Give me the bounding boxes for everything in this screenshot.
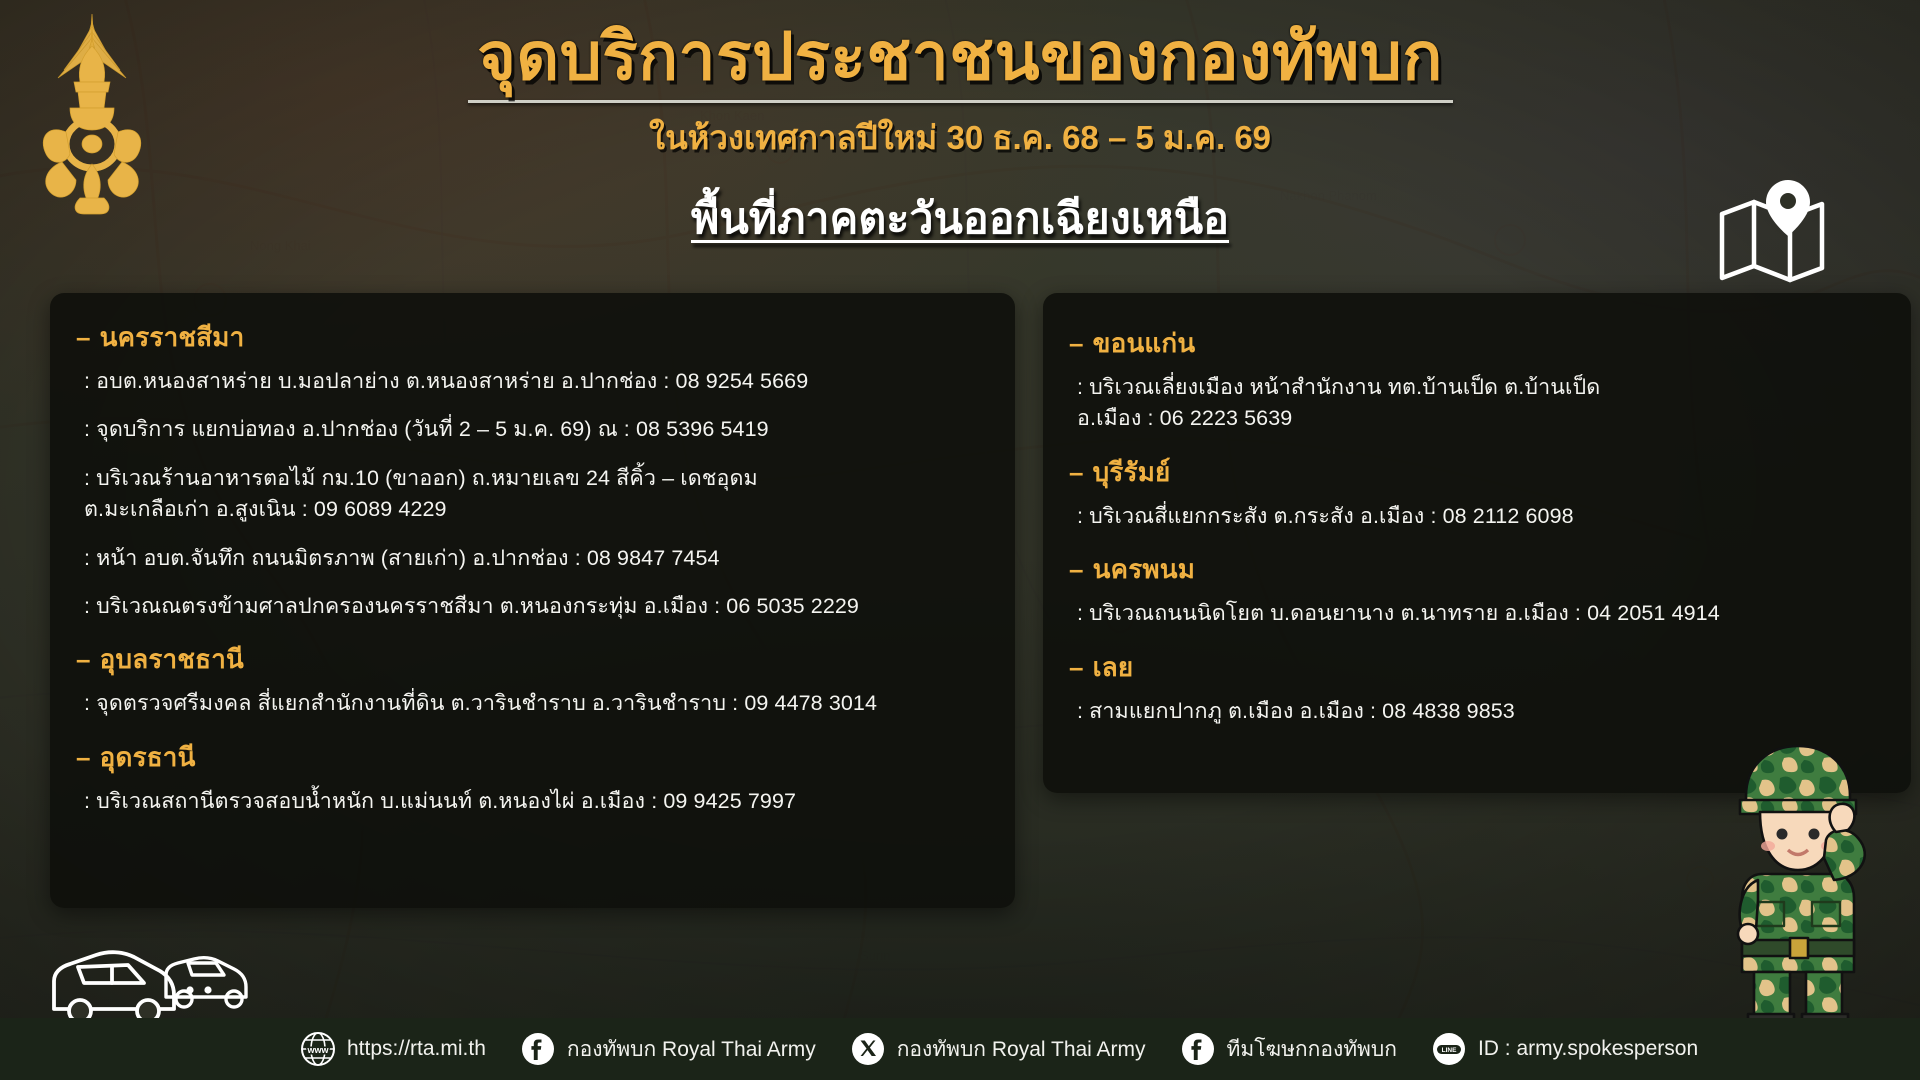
traffic-cars-icon (48, 935, 263, 1020)
service-point-entry: : บริเวณเลี่ยงเมือง หน้าสำนักงาน ทต.บ้าน… (1077, 372, 1885, 435)
footer-link-website[interactable]: www www https://rta.mi.th (300, 1031, 486, 1067)
service-point-entry: : จุดบริการ แยกบ่อทอง อ.ปากช่อง (วันที่ … (84, 414, 989, 445)
footer-bar: www www https://rta.mi.th กองทัพบก Royal… (0, 1018, 1920, 1080)
dash-marker: – (1069, 457, 1084, 487)
province-name: เลย (1093, 652, 1134, 682)
footer-label: กองทัพบก Royal Thai Army (897, 1033, 1146, 1066)
northeast-right-panel: –ขอนแก่น : บริเวณเลี่ยงเมือง หน้าสำนักงา… (1043, 293, 1911, 793)
province-name: อุบลราชธานี (100, 644, 244, 674)
footer-link-facebook-spokesperson[interactable]: ทีมโฆษกกองทัพบก (1180, 1031, 1397, 1067)
dash-marker: – (1069, 328, 1084, 358)
footer-label: ทีมโฆษกกองทัพบก (1227, 1033, 1397, 1066)
service-point-entry: : บริเวณร้านอาหารตอไม้ กม.10 (ขาออก) ถ.ห… (84, 463, 989, 526)
title-divider (468, 100, 1453, 103)
x-twitter-icon (850, 1031, 886, 1067)
footer-link-line[interactable]: LINE ID : army.spokesperson (1431, 1031, 1698, 1067)
province-heading: –นครพนม (1069, 549, 1885, 590)
footer-link-x-army[interactable]: กองทัพบก Royal Thai Army (850, 1031, 1146, 1067)
service-point-entry: : บริเวณสี่แยกกระสัง ต.กระสัง อ.เมือง : … (1077, 501, 1885, 532)
province-name: อุดรธานี (100, 742, 196, 772)
facebook-icon (1180, 1031, 1216, 1067)
footer-label: กองทัพบก Royal Thai Army (567, 1033, 816, 1066)
dash-marker: – (1069, 652, 1084, 682)
saluting-soldier-mascot-icon (1698, 734, 1898, 1034)
service-point-entry: : หน้า อบต.จันทึก ถนนมิตรภาพ (สายเก่า) อ… (84, 543, 989, 574)
footer-label: https://rta.mi.th (347, 1037, 486, 1061)
www-globe-icon: www www (300, 1031, 336, 1067)
folded-map-pin-icon (1716, 176, 1828, 291)
province-heading: –เลย (1069, 647, 1885, 688)
service-point-entry: : อบต.หนองสาหร่าย บ.มอปลาย่าง ต.หนองสาหร… (84, 366, 989, 397)
line-icon: LINE (1431, 1031, 1467, 1067)
page-subtitle: ในห้วงเทศกาลปีใหม่ 30 ธ.ค. 68 – 5 ม.ค. 6… (0, 111, 1920, 164)
service-point-entry: : สามแยกปากภู ต.เมือง อ.เมือง : 08 4838 … (1077, 696, 1885, 727)
footer-left-spacer (0, 1018, 300, 1080)
dash-marker: – (76, 322, 91, 352)
province-name: นครพนม (1093, 554, 1195, 584)
service-point-entry: : บริเวณสถานีตรวจสอบน้ำหนัก บ.แม่นนท์ ต.… (84, 786, 989, 817)
province-name: นครราชสีมา (100, 322, 245, 352)
province-heading: –อุดรธานี (76, 737, 989, 778)
province-heading: –นครราชสีมา (76, 317, 989, 358)
facebook-icon (520, 1031, 556, 1067)
footer-label: ID : army.spokesperson (1478, 1037, 1698, 1061)
dash-marker: – (76, 644, 91, 674)
province-heading: –อุบลราชธานี (76, 639, 989, 680)
region-heading: พื้นที่ภาคตะวันออกเฉียงเหนือ (0, 184, 1920, 252)
province-heading: –ขอนแก่น (1069, 323, 1885, 364)
province-name: ขอนแก่น (1093, 328, 1196, 358)
dash-marker: – (1069, 554, 1084, 584)
province-name: บุรีรัมย์ (1093, 457, 1171, 487)
province-heading: –บุรีรัมย์ (1069, 452, 1885, 493)
service-point-entry: : บริเวณถนนนิดโยต บ.ดอนยานาง ต.นาทราย อ.… (1077, 598, 1885, 629)
footer-link-facebook-army[interactable]: กองทัพบก Royal Thai Army (520, 1031, 816, 1067)
svg-text:www: www (306, 1045, 329, 1055)
page-title: จุดบริการประชาชนของกองทัพบก (0, 18, 1920, 96)
svg-text:LINE: LINE (1442, 1047, 1457, 1054)
dash-marker: – (76, 742, 91, 772)
header: จุดบริการประชาชนของกองทัพบก ในห้วงเทศกาล… (0, 18, 1920, 252)
service-point-entry: : บริเวณณตรงข้ามศาลปกครองนครราชสีมา ต.หน… (84, 591, 989, 622)
service-point-entry: : จุดตรวจศรีมงคล สี่แยกสำนักงานที่ดิน ต.… (84, 688, 989, 719)
northeast-left-panel: –นครราชสีมา : อบต.หนองสาหร่าย บ.มอปลาย่า… (50, 293, 1015, 908)
